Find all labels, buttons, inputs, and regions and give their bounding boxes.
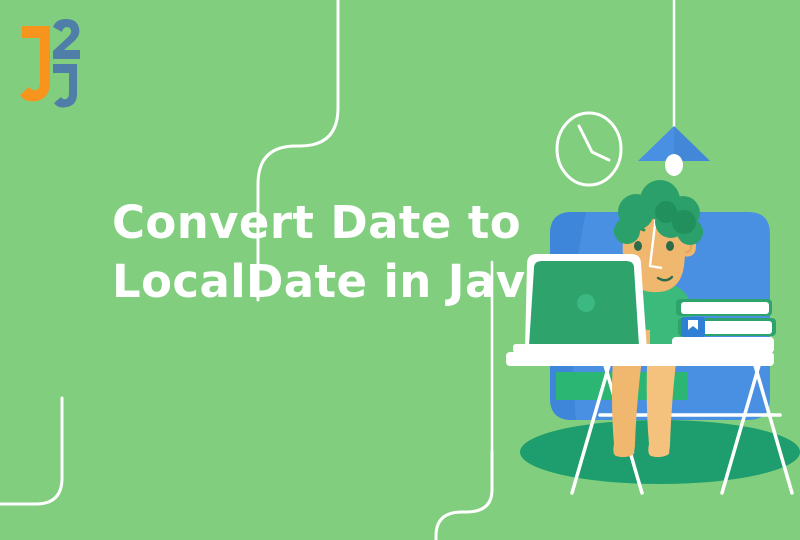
wall-clock-icon	[557, 113, 621, 185]
illustration-layer	[0, 0, 800, 540]
desk-top	[506, 352, 774, 366]
laptop	[513, 254, 661, 353]
book-stack	[672, 299, 776, 353]
laptop-logo-icon	[577, 294, 595, 312]
article-banner: Convert Date to LocalDate in Java	[0, 0, 800, 540]
pendant-lamp-icon	[638, 0, 710, 176]
desk-papers	[630, 344, 674, 353]
